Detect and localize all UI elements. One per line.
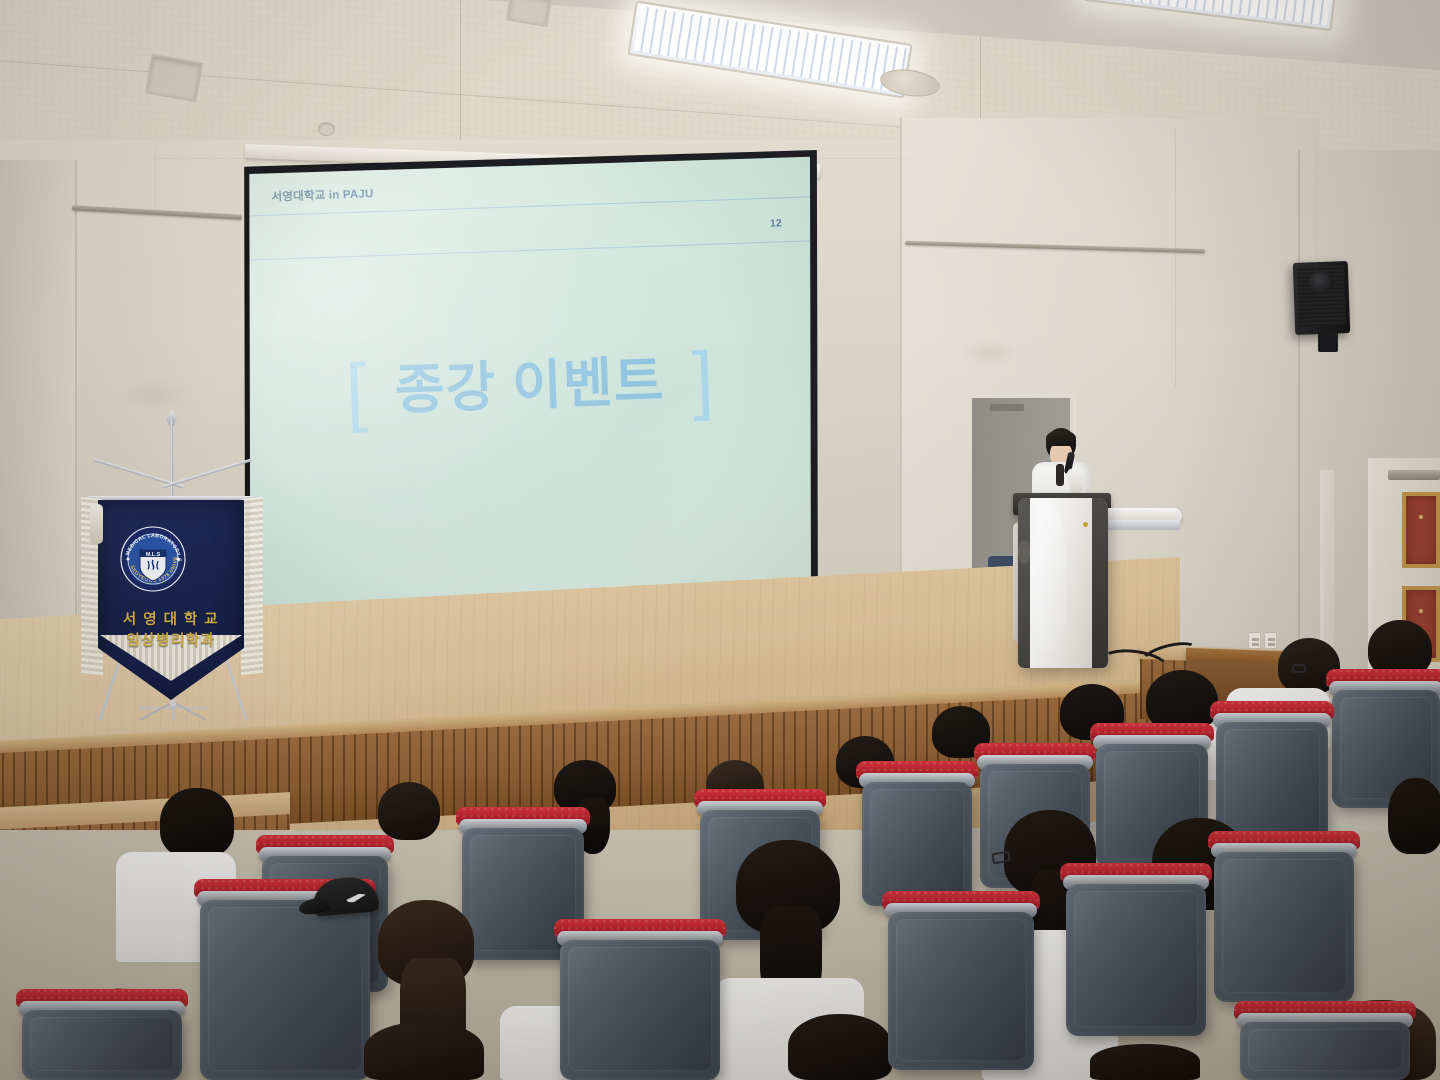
audience-member <box>160 788 234 858</box>
podium-left-trim <box>1018 498 1030 668</box>
pennant-tassel <box>90 504 103 544</box>
wall-mark <box>960 340 1020 366</box>
door-sensor <box>990 404 1024 411</box>
audience-member <box>788 1014 892 1080</box>
hair <box>378 782 440 840</box>
pennant-arm <box>162 458 253 488</box>
left-wall-panel <box>0 160 78 680</box>
wall-seam <box>1175 128 1176 388</box>
podium-handle <box>1018 540 1030 564</box>
pennant-pole <box>170 420 173 498</box>
door-closer-arm <box>1388 470 1440 480</box>
audience-member <box>378 782 440 840</box>
wall-speaker <box>1293 261 1350 335</box>
auditorium-seat[interactable] <box>22 1010 182 1080</box>
podium-right-trim <box>1092 498 1108 668</box>
seat-backrest <box>862 782 972 906</box>
seat-backrest <box>22 1010 182 1080</box>
nike-swoosh-icon <box>346 893 367 903</box>
auditorium-seat[interactable] <box>888 912 1034 1070</box>
wall-outlet[interactable] <box>1248 632 1261 649</box>
auditorium-seat[interactable] <box>200 900 370 1080</box>
audience-member <box>1090 1044 1200 1080</box>
hair <box>788 1014 892 1080</box>
seat-backrest <box>888 912 1034 1070</box>
eyeglasses <box>1292 664 1306 673</box>
door-panel-upper <box>1402 492 1440 568</box>
auditorium-photo: 서영대학교 in PAJU 12 [ 종강 이벤트 ] <box>0 0 1440 1080</box>
wall-seam <box>155 148 156 208</box>
wall-corner-seam <box>75 160 77 660</box>
audience-member <box>1388 778 1440 854</box>
seat-backrest <box>1066 884 1206 1036</box>
smoke-detector <box>318 122 335 136</box>
hair <box>364 1022 484 1080</box>
speaker-cable <box>1316 140 1317 266</box>
auditorium-seat[interactable] <box>560 940 720 1080</box>
ceiling-light-fixture <box>1083 0 1337 31</box>
speaker-driver <box>1308 272 1333 294</box>
wall-outlet[interactable] <box>1264 632 1277 649</box>
seat-backrest <box>200 900 370 1080</box>
seat-backrest <box>560 940 720 1080</box>
seat-backrest <box>1240 1022 1410 1080</box>
pennant-fringe-right <box>241 497 263 675</box>
department-emblem: MEDICAL LABORATORY SCIENCE SEOYEONG 1978… <box>118 524 188 594</box>
presenter-hair-front <box>1046 430 1076 446</box>
hair <box>1090 1044 1200 1080</box>
presenter-collar <box>1056 464 1064 486</box>
department-pennant: MEDICAL LABORATORY SCIENCE SEOYEONG 1978… <box>78 420 268 800</box>
pennant-line-1: 서 영 대 학 교 <box>98 608 244 629</box>
seat-backrest <box>1214 852 1354 1002</box>
pennant-line-2: 임상병리학과 <box>98 629 244 650</box>
auditorium-seat[interactable] <box>1066 884 1206 1036</box>
auditorium-seat[interactable] <box>1214 852 1354 1002</box>
svg-text:M.L.S: M.L.S <box>146 552 161 558</box>
speaker-bracket <box>1318 330 1338 352</box>
auditorium-seat[interactable] <box>862 782 972 906</box>
hair <box>1388 778 1440 854</box>
auditorium-seat[interactable] <box>1240 1022 1410 1080</box>
podium-indicator-light <box>1083 522 1088 527</box>
hair <box>160 788 234 858</box>
audience-member <box>364 1022 484 1080</box>
podium-gloss-highlight <box>1036 510 1066 650</box>
wall-mark <box>120 380 190 410</box>
podium-keyboard[interactable] <box>1104 520 1180 530</box>
